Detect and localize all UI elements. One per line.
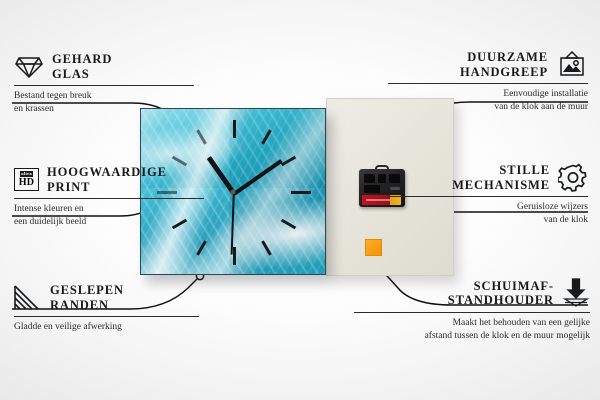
gear-icon xyxy=(558,163,588,192)
clock-center-hub xyxy=(231,189,236,194)
callout-schuimaf-standhouder[interactable]: SCHUIMAF- STANDHOUDER Maakt het behouden… xyxy=(354,278,590,342)
mechanism-slot xyxy=(378,174,386,183)
callout-title: GEHARD GLAS xyxy=(52,52,112,81)
callout-description: Gladde en veilige afwerking xyxy=(14,321,199,334)
clock-tick xyxy=(233,247,236,265)
hatched-edge-icon xyxy=(14,285,42,310)
callout-title: HOOGWAARDIGE PRINT xyxy=(47,165,167,194)
callout-rule xyxy=(388,83,588,84)
mechanism-slot xyxy=(364,185,380,193)
callout-rule xyxy=(354,312,590,313)
callout-title: DUURZAME HANDGREEP xyxy=(460,50,548,79)
hd-label: HD xyxy=(19,178,35,188)
hanging-picture-frame-icon xyxy=(556,51,588,79)
callout-description: Maakt het behouden van een gelijke afsta… xyxy=(354,317,590,342)
foam-spacer xyxy=(365,239,385,259)
callout-description: Geruisloze wijzers van de klok xyxy=(388,201,588,226)
callout-rule xyxy=(388,196,588,197)
clock-tick xyxy=(291,191,311,194)
callout-title: GESLEPEN RANDEN xyxy=(50,283,124,312)
callout-duurzame-handgreep[interactable]: DUURZAME HANDGREEP Eenvoudige installati… xyxy=(388,50,588,113)
diamond-icon xyxy=(14,54,44,80)
product-infographic: GEHARD GLAS Bestand tegen breuk en krass… xyxy=(0,0,600,400)
callout-title: SCHUIMAF- STANDHOUDER xyxy=(448,279,554,308)
callout-description: Eenvoudige installatie van de klok aan d… xyxy=(388,88,588,113)
ultra-hd-badge-icon: ultra HD xyxy=(14,168,39,191)
callout-stille-mechanisme[interactable]: STILLE MECHANISME Geruisloze wijzers van… xyxy=(388,163,588,226)
mechanism-slot xyxy=(364,174,375,183)
callout-rule xyxy=(14,316,199,317)
spacer-pad xyxy=(365,239,382,256)
callout-rule xyxy=(14,198,204,199)
callout-rule xyxy=(14,85,194,86)
callout-description: Bestand tegen breuk en krassen xyxy=(14,90,194,115)
callout-geslepen-randen[interactable]: GESLEPEN RANDEN Gladde en veilige afwerk… xyxy=(14,283,199,334)
clock-tick xyxy=(233,120,236,138)
callout-hoogwaardige-print[interactable]: ultra HD HOOGWAARDIGE PRINT Intense kleu… xyxy=(14,165,204,228)
callout-title: STILLE MECHANISME xyxy=(452,163,550,192)
callout-gehard-glas[interactable]: GEHARD GLAS Bestand tegen breuk en krass… xyxy=(14,52,194,115)
callout-description: Intense kleuren en een duidelijk beeld xyxy=(14,203,204,228)
down-arrow-stack-icon xyxy=(562,278,590,308)
